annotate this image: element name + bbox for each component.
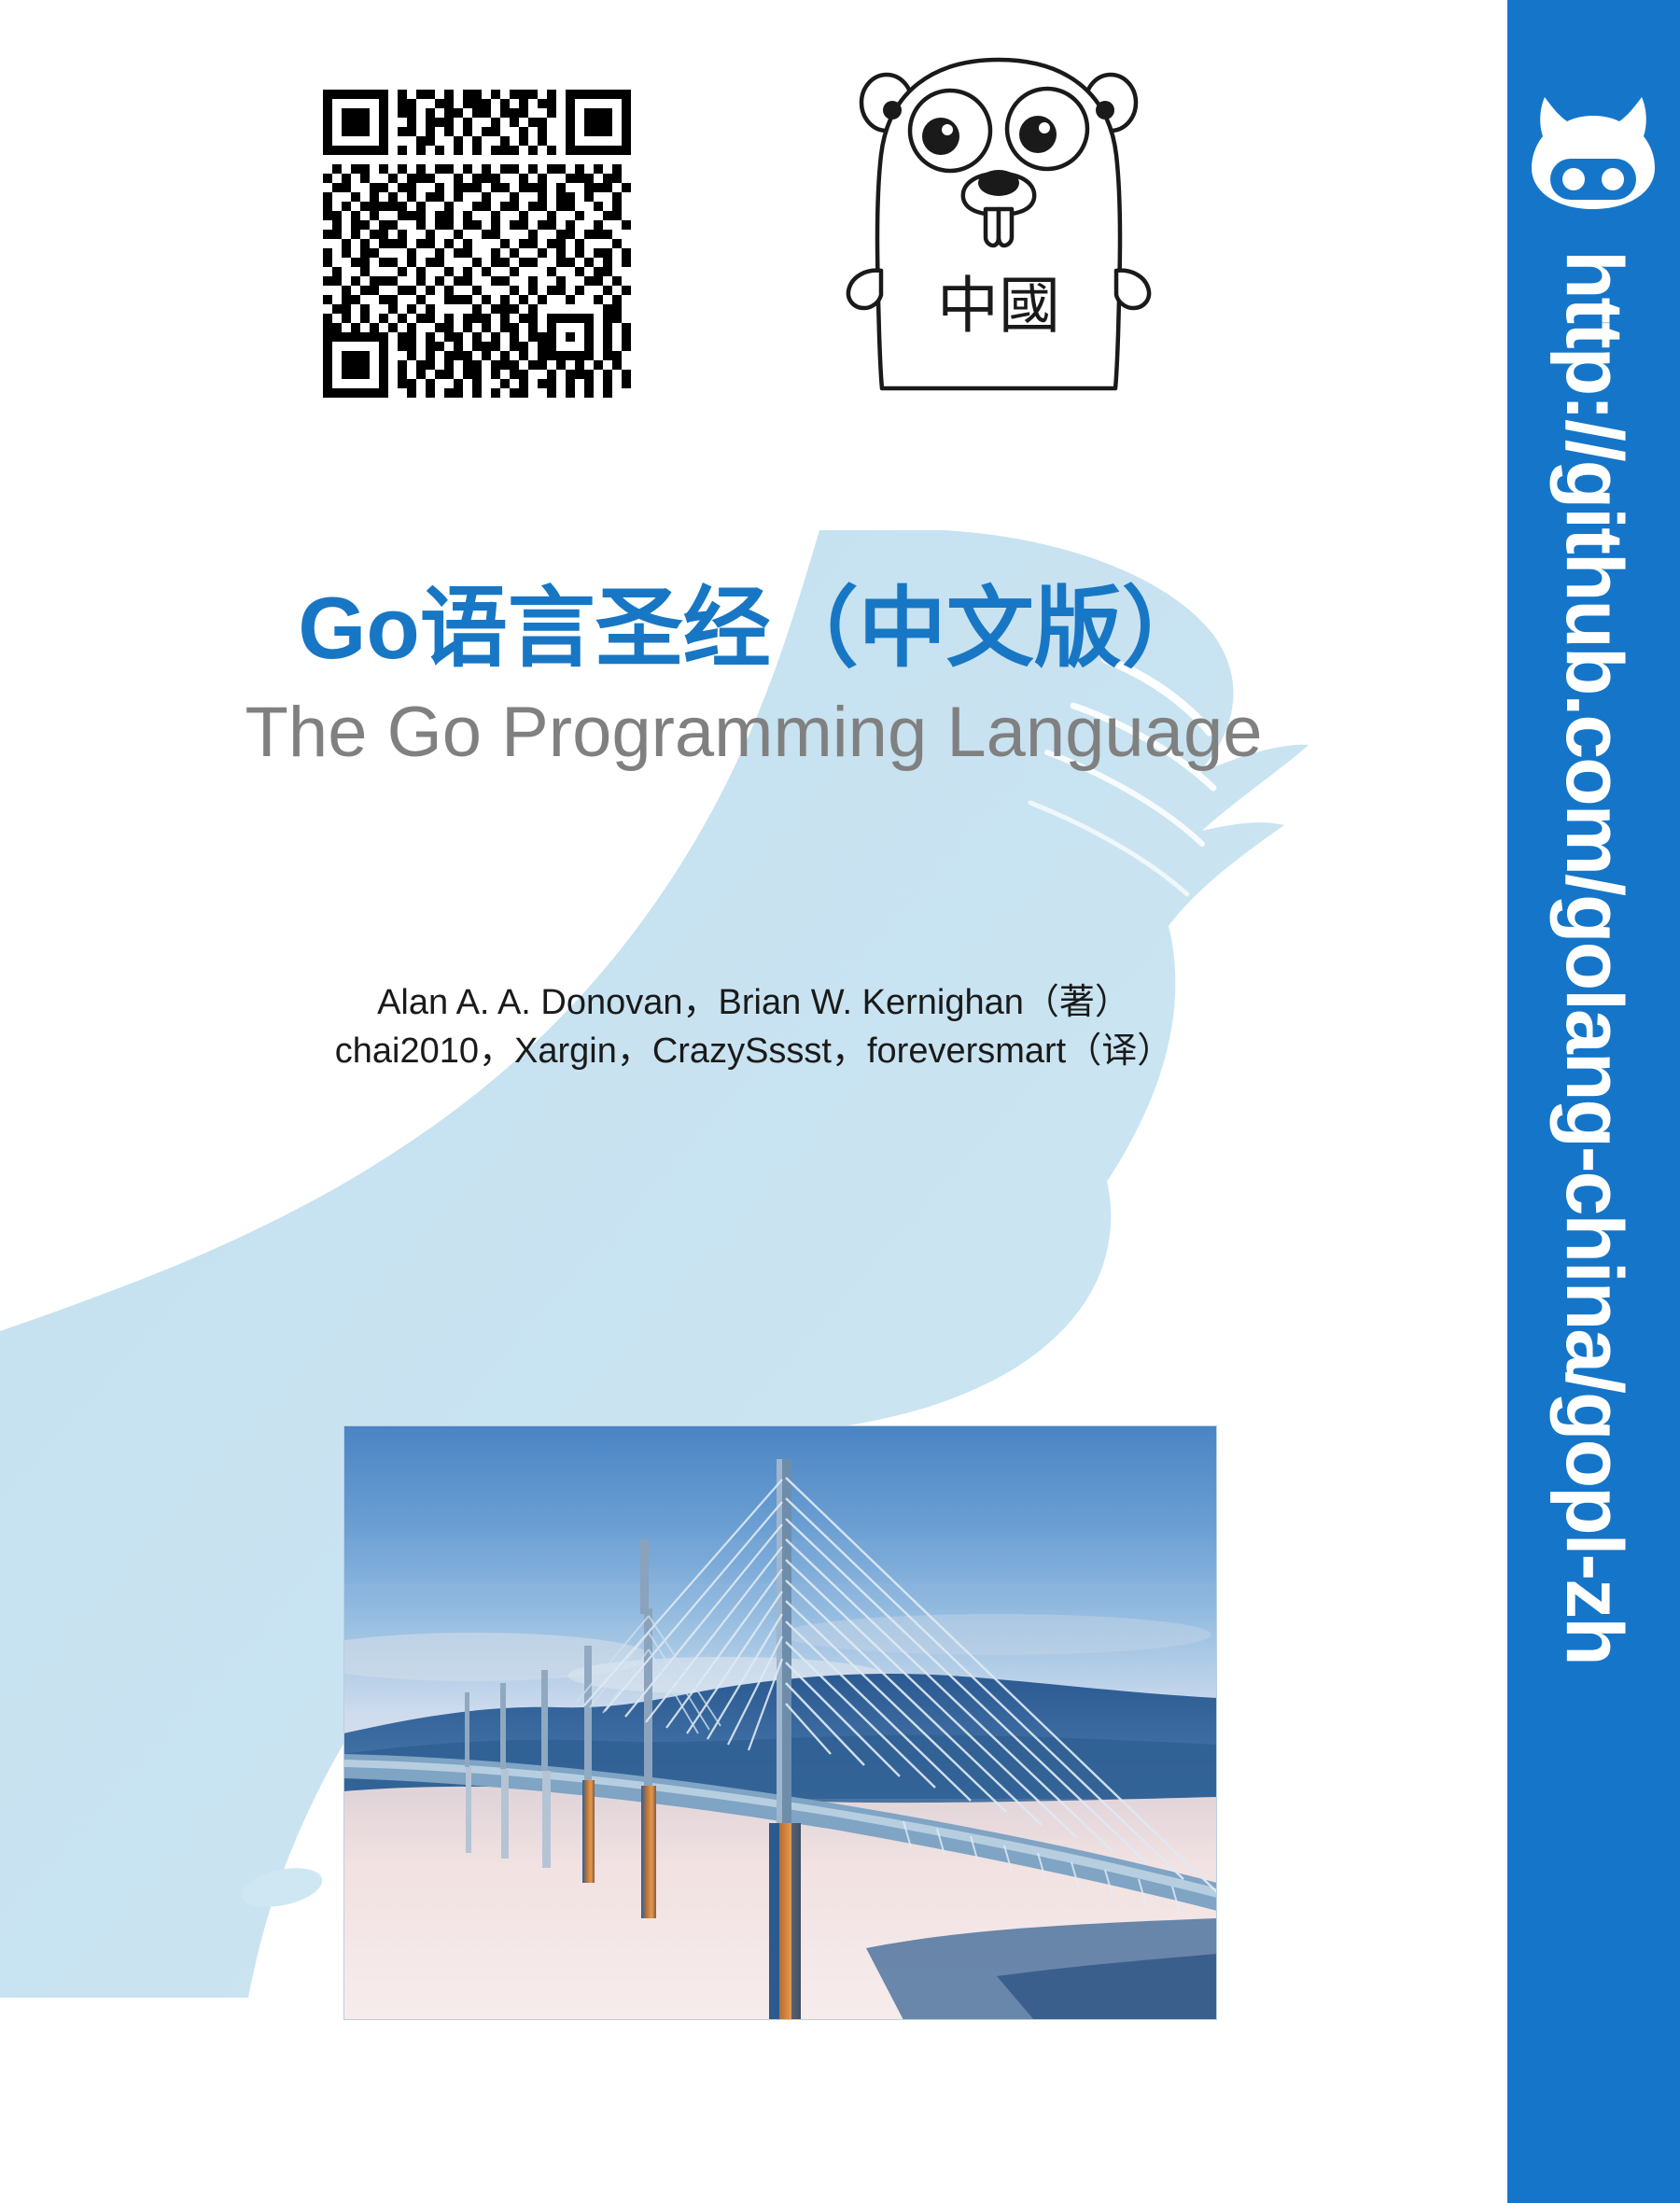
go-gopher-mascot: 中國 [840,54,1157,400]
qr-code[interactable] [323,90,631,398]
bridge-photo [343,1425,1217,2020]
page-title-chinese: Go语言圣经（中文版） [0,579,1507,677]
page-title-english: The Go Programming Language [0,690,1507,775]
book-cover: 中國 Go语言圣经（中文版） The Go Programming Langua… [0,0,1680,2203]
gopher-belly-text: 中國 [937,270,1060,342]
authors-block: Alan A. A. Donovan，Brian W. Kernighan（著）… [0,978,1507,1076]
github-octocat-icon[interactable] [1530,93,1657,213]
sidebar-url-text[interactable]: http://github.com/golang-china/gopl-zh [1507,250,1680,1664]
authors-original: Alan A. A. Donovan，Brian W. Kernighan（著） [0,978,1507,1027]
title-block: Go语言圣经（中文版） The Go Programming Language [0,579,1507,775]
authors-translators: chai2010，Xargin，CrazySssst，foreversmart（… [0,1027,1507,1075]
sidebar: http://github.com/golang-china/gopl-zh [1507,0,1680,2203]
